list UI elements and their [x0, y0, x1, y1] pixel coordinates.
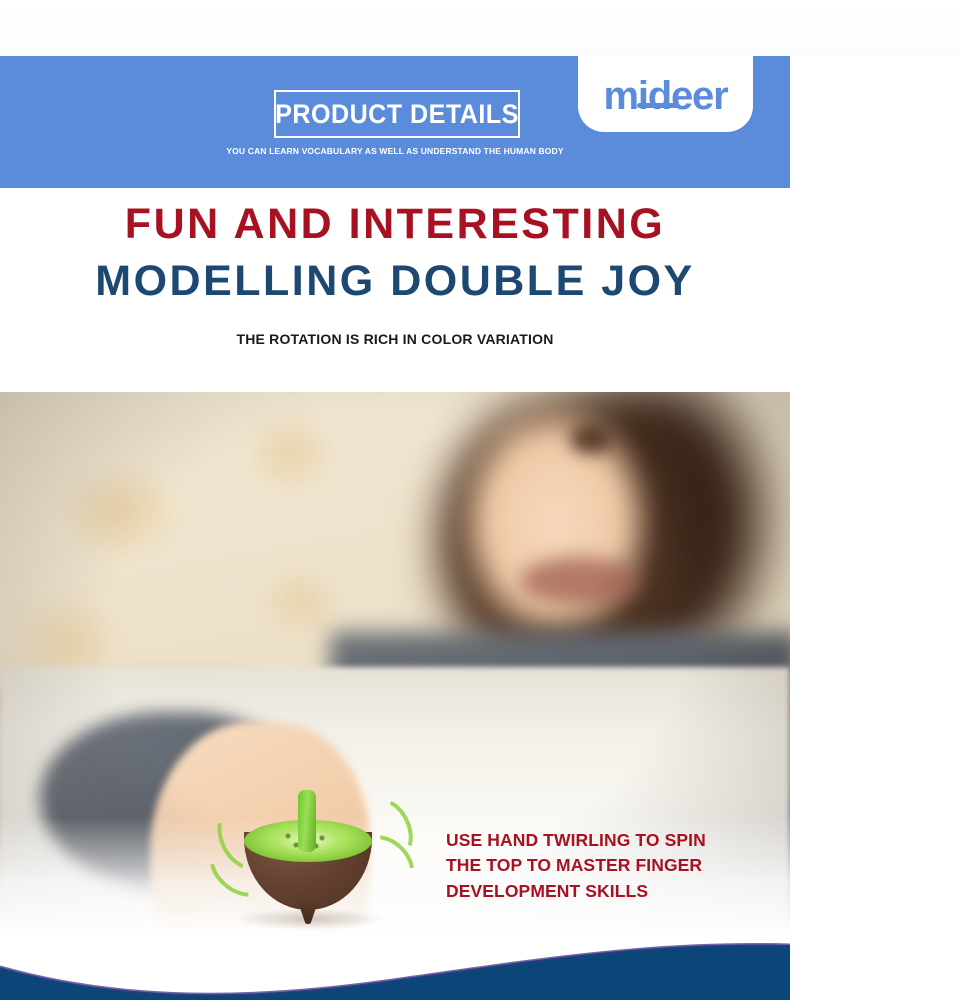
headline-line-2: MODELLING DOUBLE JOY [0, 257, 790, 306]
banner-subtitle: YOU CAN LEARN VOCABULARY AS WELL AS UNDE… [0, 146, 790, 156]
top-white-gutter [0, 0, 960, 56]
product-details-title-box: PRODUCT DETAILS [274, 90, 520, 138]
headline-subtitle: THE ROTATION IS RICH IN COLOR VARIATION [0, 331, 790, 347]
photo-caption-line-2: THE TOP TO MASTER FINGER [446, 853, 746, 878]
product-details-title: PRODUCT DETAILS [275, 101, 519, 128]
footer-wave-shape [0, 905, 790, 1000]
headline-line-1: FUN AND INTERESTING [0, 200, 790, 249]
brand-logo-text: mideer [604, 76, 728, 116]
photo-caption-line-1: USE HAND TWIRLING TO SPIN [446, 828, 746, 853]
photo-caption-line-3: DEVELOPMENT SKILLS [446, 879, 746, 904]
brand-logo-plate: mideer [578, 56, 753, 132]
photo-caption: USE HAND TWIRLING TO SPIN THE TOP TO MAS… [446, 828, 746, 904]
toy-stem [298, 790, 316, 852]
headline-block: FUN AND INTERESTING MODELLING DOUBLE JOY… [0, 200, 790, 347]
header-scallop-edge [0, 164, 790, 194]
kiwi-spinning-top [222, 790, 402, 920]
brand-logo-label: mideer [604, 74, 728, 118]
logo-strike-accent [637, 103, 679, 108]
product-detail-page: PRODUCT DETAILS YOU CAN LEARN VOCABULARY… [0, 0, 960, 1000]
footer-wave [0, 905, 790, 1000]
